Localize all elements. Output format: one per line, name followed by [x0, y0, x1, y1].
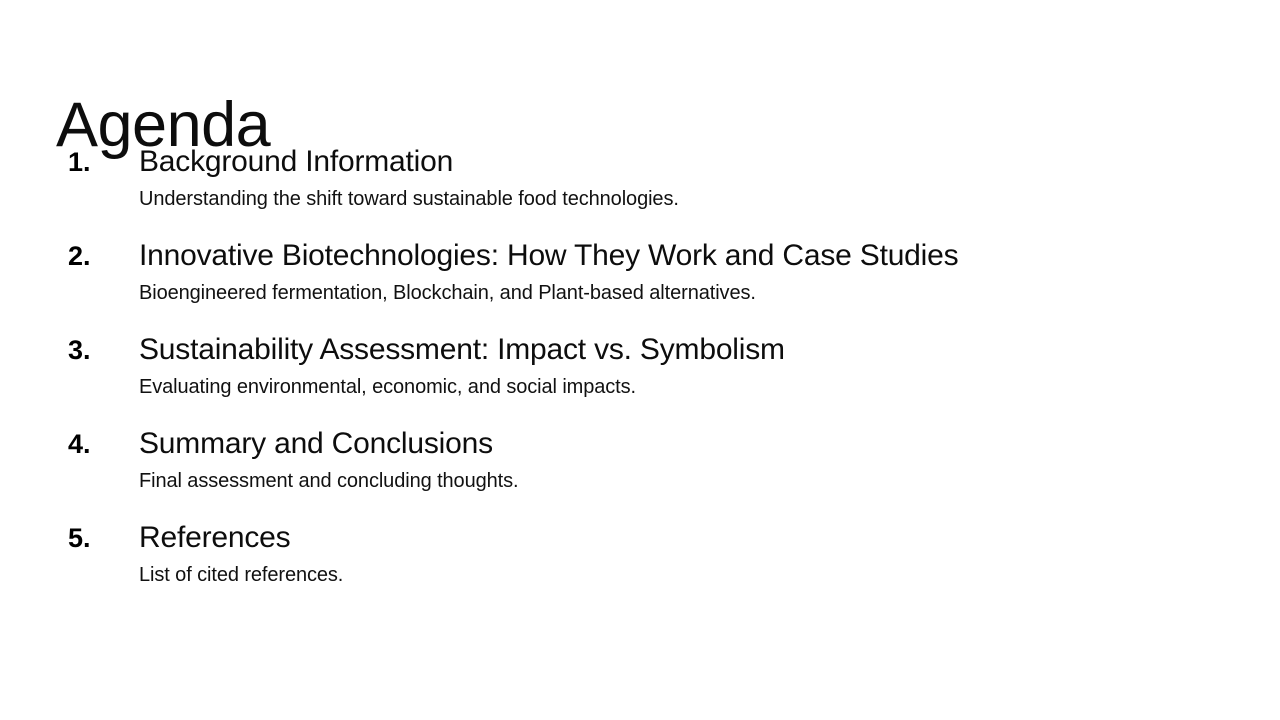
list-item-heading: Innovative Biotechnologies: How They Wor…	[139, 237, 1236, 275]
list-item: 2. Innovative Biotechnologies: How They …	[56, 237, 1236, 308]
agenda-list: 1. Background Information Understanding …	[56, 143, 1236, 613]
list-item-number: 4.	[56, 425, 128, 463]
list-item-number: 3.	[56, 331, 128, 369]
list-item-subtitle: List of cited references.	[139, 560, 1236, 590]
list-item: 3. Sustainability Assessment: Impact vs.…	[56, 331, 1236, 402]
list-item: 1. Background Information Understanding …	[56, 143, 1236, 214]
list-item-number: 1.	[56, 143, 128, 181]
list-item-subtitle: Understanding the shift toward sustainab…	[139, 184, 1236, 214]
agenda-slide: Agenda 1. Background Information Underst…	[0, 0, 1280, 720]
list-item-heading: Summary and Conclusions	[139, 425, 1236, 463]
list-item-heading: Sustainability Assessment: Impact vs. Sy…	[139, 331, 1236, 369]
list-item: 4. Summary and Conclusions Final assessm…	[56, 425, 1236, 496]
list-item-heading: References	[139, 519, 1236, 557]
list-item-subtitle: Evaluating environmental, economic, and …	[139, 372, 1236, 402]
list-item-number: 5.	[56, 519, 128, 557]
list-item-subtitle: Bioengineered fermentation, Blockchain, …	[139, 278, 1236, 308]
list-item: 5. References List of cited references.	[56, 519, 1236, 590]
list-item-body: Innovative Biotechnologies: How They Wor…	[128, 237, 1236, 308]
list-item-subtitle: Final assessment and concluding thoughts…	[139, 466, 1236, 496]
list-item-body: Sustainability Assessment: Impact vs. Sy…	[128, 331, 1236, 402]
list-item-heading: Background Information	[139, 143, 1236, 181]
list-item-body: Summary and Conclusions Final assessment…	[128, 425, 1236, 496]
list-item-number: 2.	[56, 237, 128, 275]
list-item-body: References List of cited references.	[128, 519, 1236, 590]
list-item-body: Background Information Understanding the…	[128, 143, 1236, 214]
